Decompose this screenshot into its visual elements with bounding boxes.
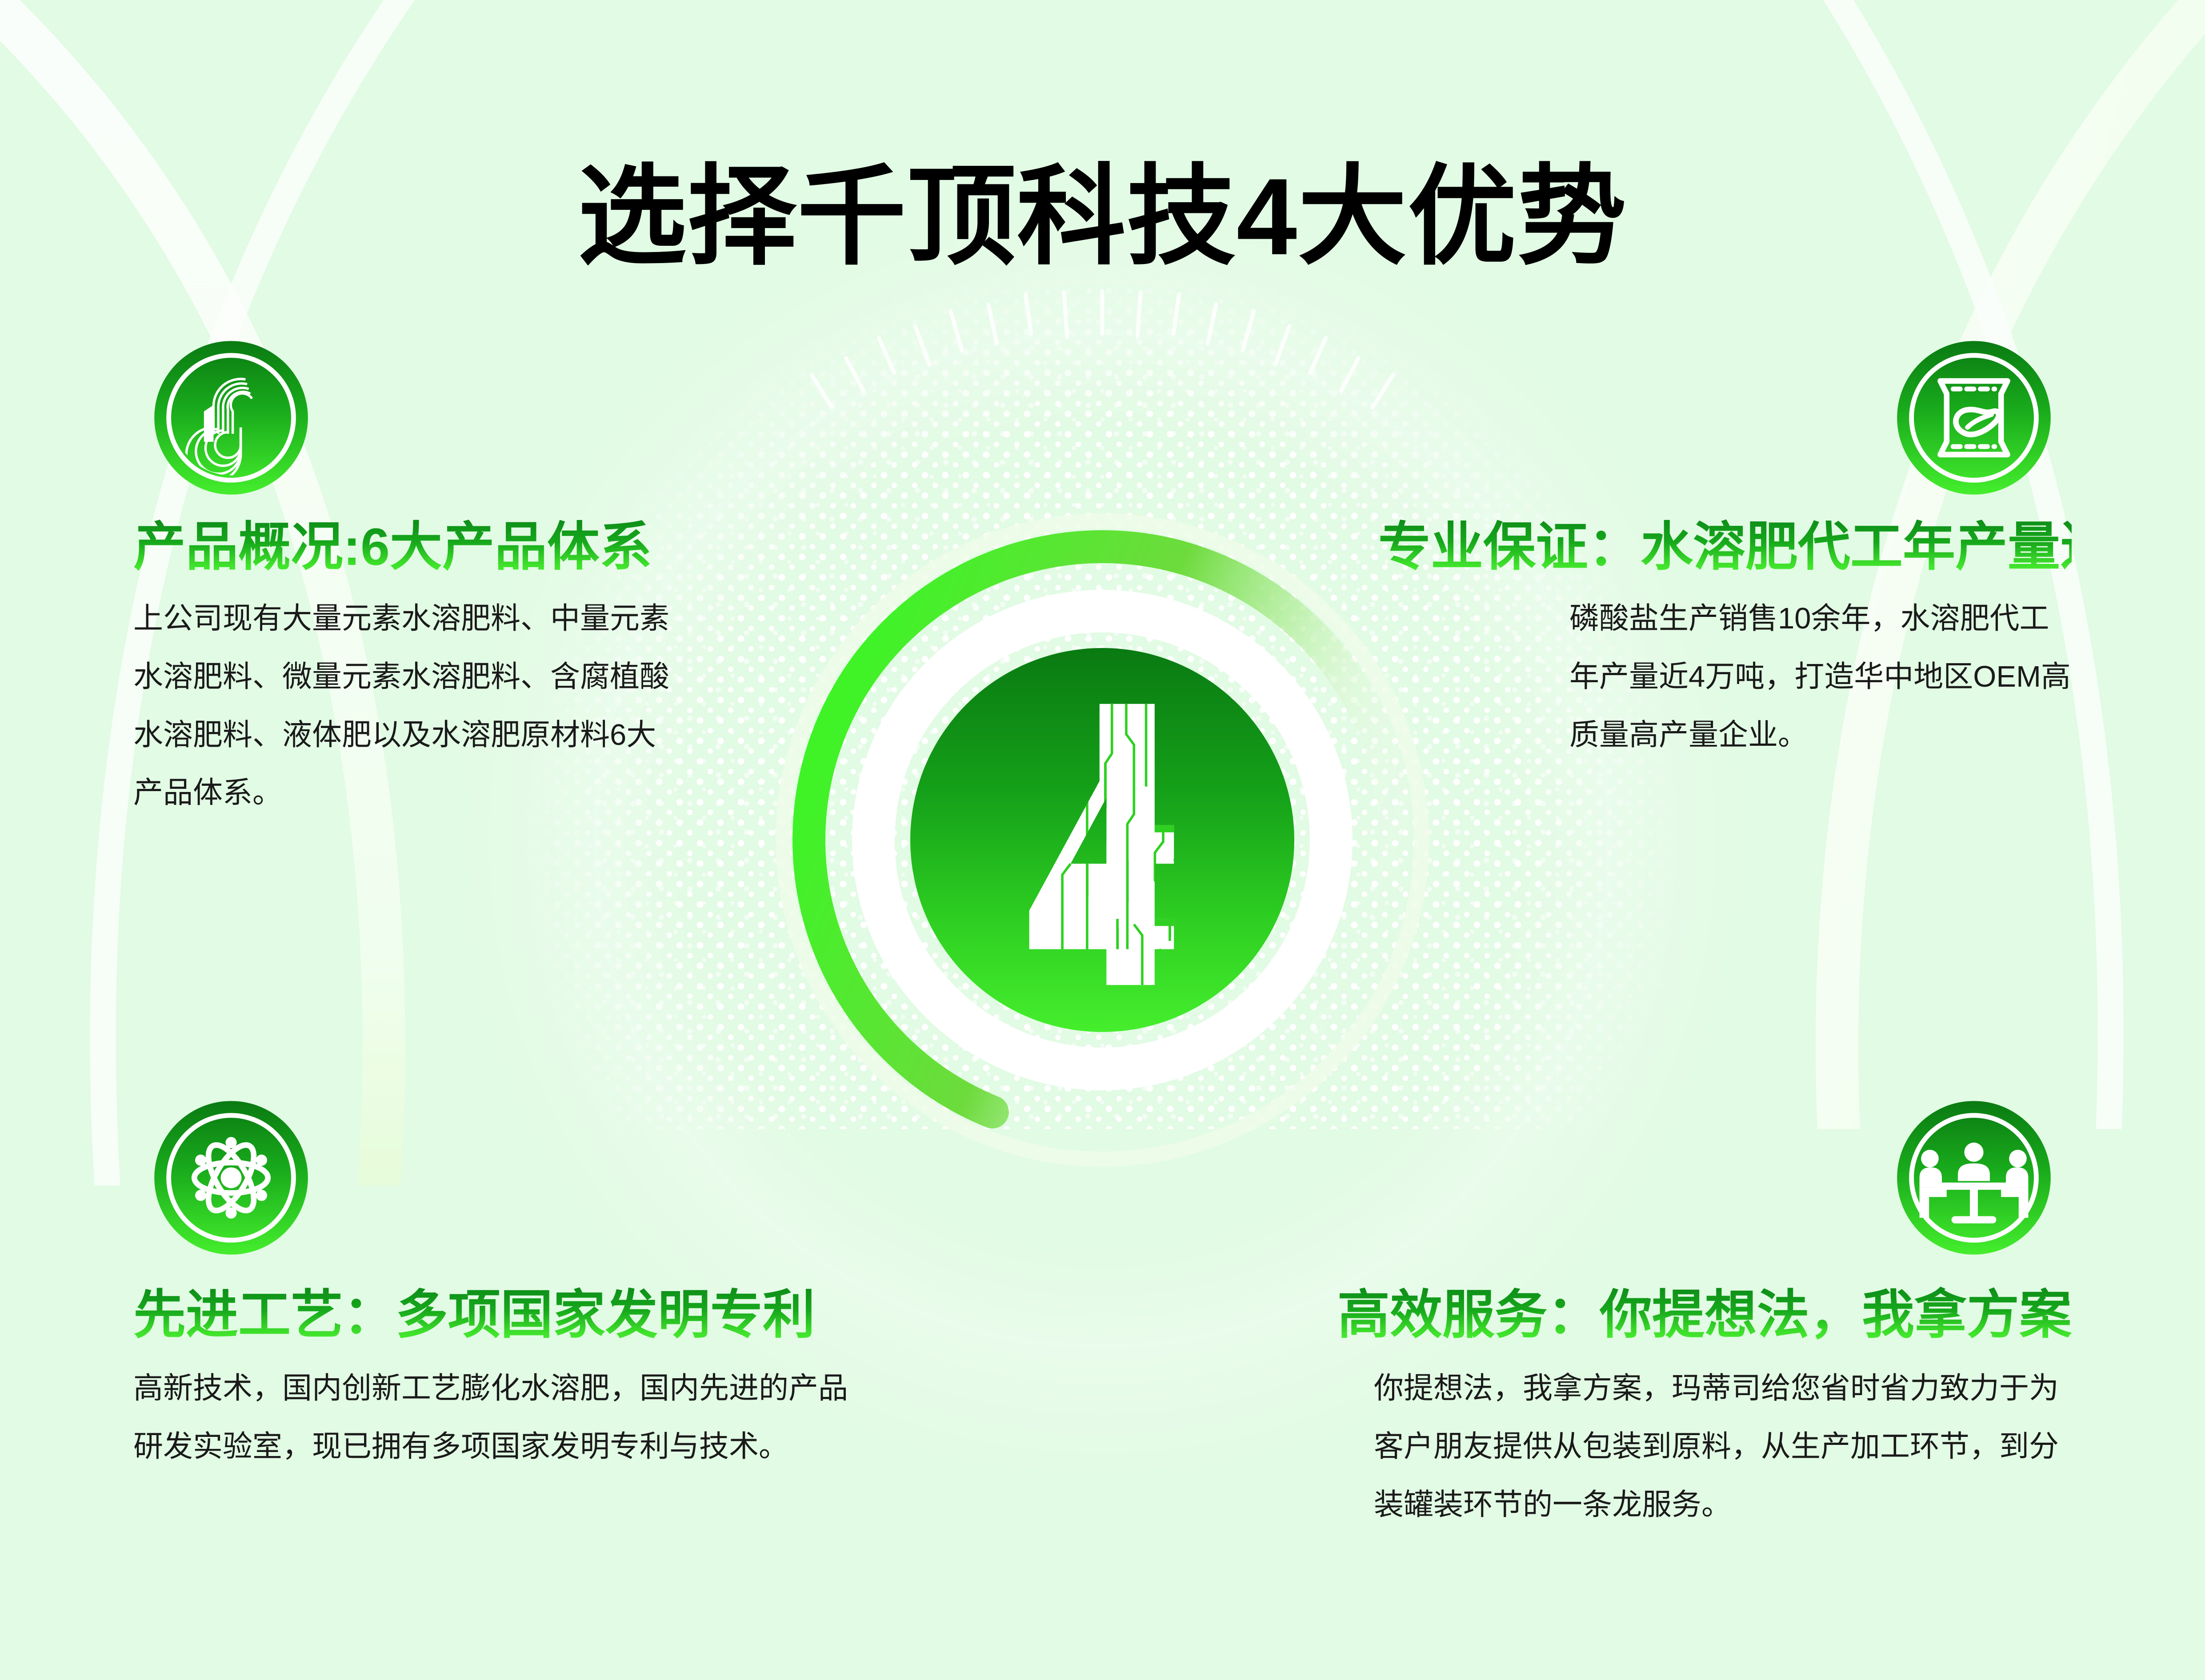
infographic-stage: 选择千顶科技4大优势: [0, 0, 2205, 1680]
advantage-heading-top-left: 产品概况:6大产品体系: [133, 516, 711, 578]
advantage-block-top-left: 产品概况:6大产品体系 上公司现有大量元素水溶肥料、中量元素水溶肥料、微量元素水…: [133, 338, 711, 822]
icon-holder-bottom-right: [1894, 1098, 2054, 1258]
advantage-heading-bottom-right: 高效服务：你提想法，我拿方案: [1272, 1284, 2072, 1346]
advantage-block-bottom-left: 先进工艺：多项国家发明专利 高新技术，国内创新工艺膨化水溶肥，国内先进的产品研发…: [133, 1098, 889, 1476]
advantage-heading-bottom-left: 先进工艺：多项国家发明专利: [133, 1284, 889, 1346]
advantage-block-top-right: 专业保证：水溶肥代工年产量近4万吨 磷酸盐生产销售10余年，水溶肥代工年产量近4…: [1378, 338, 2072, 764]
meeting-people-icon: [1894, 1098, 2054, 1258]
advantage-body-top-left: 上公司现有大量元素水溶肥料、中量元素水溶肥料、微量元素水溶肥料、含腐植酸水溶肥料…: [133, 590, 684, 822]
advantage-heading-top-right: 专业保证：水溶肥代工年产量近4万吨: [1378, 516, 2072, 578]
fertilizer-bag-icon: [1894, 338, 2054, 498]
number-six-circle-icon: [151, 338, 311, 498]
advantage-body-bottom-left: 高新技术，国内创新工艺膨化水溶肥，国内先进的产品研发实验室，现已拥有多项国家发明…: [133, 1360, 876, 1476]
page-title: 选择千顶科技4大优势: [0, 160, 2205, 274]
center-medallion: [769, 507, 1436, 1173]
icon-holder-top-left: [151, 338, 311, 498]
advantage-body-bottom-right: 你提想法，我拿方案，玛蒂司给您省时省力致力于为客户朋友提供从包装到原料，从生产加…: [1374, 1360, 2072, 1534]
icon-holder-top-right: [1894, 338, 2054, 498]
icon-holder-bottom-left: [151, 1098, 311, 1258]
atom-icon: [151, 1098, 311, 1258]
advantage-block-bottom-right: 高效服务：你提想法，我拿方案 你提想法，我拿方案，玛蒂司给您省时省力致力于为客户…: [1272, 1098, 2072, 1534]
advantage-body-top-right: 磷酸盐生产销售10余年，水溶肥代工年产量近4万吨，打造华中地区OEM高质量高产量…: [1569, 590, 2072, 764]
